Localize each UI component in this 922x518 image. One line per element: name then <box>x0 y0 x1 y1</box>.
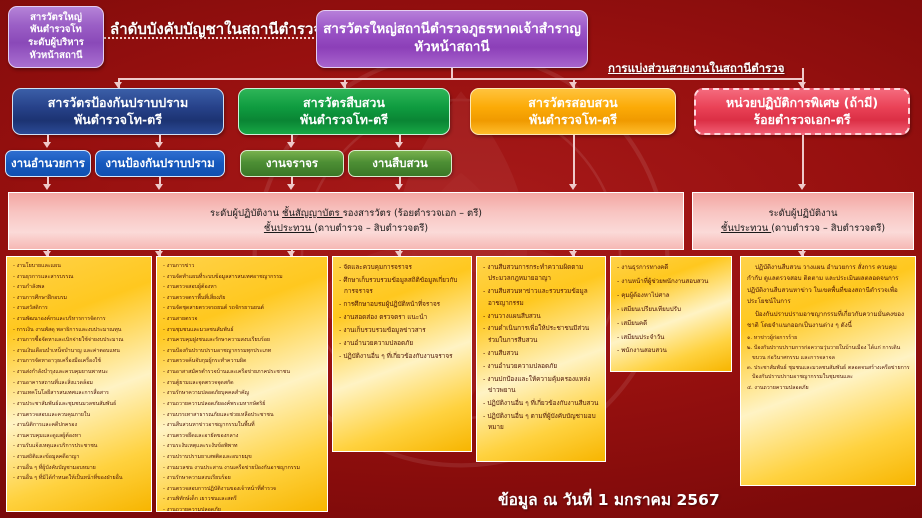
data-date-note: ข้อมูล ณ วันที่ 1 มกราคม 2567 <box>498 487 720 512</box>
interrogation-duty-list: - งานธุรการทางคดี- งานหน้าที่ผู้ช่วยพนัก… <box>617 262 726 358</box>
banner-main-l2a: ชั้นประทวน <box>264 223 314 234</box>
dept-inquiry-line1: สารวัตรสืบสวน <box>303 95 385 112</box>
duty-item: - เสมียนประจำวัน <box>617 332 726 344</box>
duty-item: - งานบรรเทาสาธารณภัยและช่วยเหลือประชาชน <box>163 411 322 420</box>
duty-item: - จัดและควบคุมการจราจร <box>339 262 466 273</box>
duty-item: - งานควบคุมฝูงชนและรักษาความสงบเรียบร้อย <box>163 336 322 345</box>
banner-main-l2b: (ดาบตำรวจ – สิบตำรวจตรี) <box>314 223 428 234</box>
banner-side-l2a: ชั้นประทวน <box>721 223 771 234</box>
duty-item: - งานพัฒนาองค์กรและบริหารการจัดการ <box>13 315 146 324</box>
operational-level-banner-side: ระดับผู้ปฏิบัติงาน ชั้นประทวน (ดาบตำรวจ … <box>692 192 914 250</box>
distribution-bar <box>118 78 802 80</box>
chief-rank-line4: หัวหน้าสถานี <box>29 50 82 63</box>
dept-special-unit-box[interactable]: หน่วยปฏิบัติการพิเศษ (ถ้ามี) ร้อยตำรวจเอ… <box>694 88 910 135</box>
duty-item: - งานตู้ยามและจุดตรวจจุดสกัด <box>163 379 322 388</box>
duty-item: - งานการซื้อจัดหาและเบิกจ่ายใช้จ่ายงบประ… <box>13 336 146 345</box>
duty-item: - เสมียนเปรียบเทียบปรับ <box>617 304 726 316</box>
subunit-investigate[interactable]: งานสืบสวน <box>348 150 452 177</box>
duty-item: - งานพิทักษ์เด็ก เยาวชนและสตรี <box>163 495 322 504</box>
duty-item: - งานการข่าว <box>163 262 322 271</box>
duty-item: - งานอื่น ๆ ที่ผู้บังคับบัญชามอบหมาย <box>13 464 146 473</box>
duty-item: - ศึกษาเก็บรวบรวมข้อมูลสถิติข้อมูลเกี่ยว… <box>339 275 466 298</box>
subunit-traffic[interactable]: งานจราจร <box>240 150 344 177</box>
duty-item: ๔. งานถวายความปลอดภัย <box>747 384 910 393</box>
dept-interrogation-line2: พันตำรวจโท-ตรี <box>529 112 617 129</box>
dept-interrogation-line1: สารวัตรสอบสวน <box>528 95 617 112</box>
duty-item: - งานธุรการและสารบรรณ <box>13 273 146 282</box>
column-investigation-duties: - งานสืบสวนการกระทำความผิดตามประมวลกฎหมา… <box>476 256 606 462</box>
duty-item: - งานถวายความปลอดภัยองค์พระมหากษัตริย์ <box>163 400 322 409</box>
chief-rank-box[interactable]: สารวัตรใหญ่ พันตำรวจโท ระดับผู้บริหาร หั… <box>8 6 104 68</box>
chief-rank-line1: สารวัตรใหญ่ <box>30 12 82 25</box>
dept-prevention-box[interactable]: สารวัตรป้องกันปราบปราม พันตำรวจโท-ตรี <box>12 88 224 135</box>
duty-item: - งานดำเนินการเพื่อให้ประชาชนมีส่วนร่วมใ… <box>483 323 600 346</box>
subunit-traffic-label: งานจราจร <box>266 155 318 173</box>
duty-item: - งานวางแผนสืบสวน <box>483 311 600 322</box>
dept-inquiry-box[interactable]: สารวัตรสืบสวน พันตำรวจโท-ตรี <box>238 88 450 135</box>
dotted-connector <box>104 37 318 39</box>
banner-main-l1b: ชั้นสัญญาบัตร <box>282 208 343 219</box>
duty-item: - งานอาสาสมัครตำรวจบ้านและเครือข่ายภาคปร… <box>163 368 322 377</box>
duty-item: - งานการศึกษาฝึกอบรม <box>13 294 146 303</box>
station-chief-box[interactable]: สารวัตรใหญ่สถานีตำรวจภูธรหาดเจ้าสำราญ หั… <box>316 10 588 68</box>
duty-item: - งานสืบสวนหาข่าวอาชญากรรมในพื้นที่ <box>163 421 322 430</box>
arrow-prevent <box>155 142 163 148</box>
duty-item: - งานจัดทำแผนที่ระบบข้อมูลสารสนเทศอาชญาก… <box>163 273 322 282</box>
duty-item: - งานสายตรวจ <box>163 315 322 324</box>
duty-item: - งานจัดชุดสายตรวจรถยนต์ รถจักรยานยนต์ <box>163 304 322 313</box>
station-chief-line1: สารวัตรใหญ่สถานีตำรวจภูธรหาดเจ้าสำราญ <box>323 21 581 39</box>
duty-item: - การเงิน งานพัสดุ พลาธิการและงบประมาณทุ… <box>13 326 146 335</box>
duty-item: ๒. ป้องกันปราบปรามการก่อความวุ่นวายในบ้า… <box>747 344 910 362</box>
line-to-banner-5 <box>573 135 575 186</box>
line-to-banner-6 <box>802 135 804 186</box>
arrow-admin <box>43 142 51 148</box>
duty-item: - งานตรวจยึดและอายัดของกลาง <box>163 432 322 441</box>
duty-item: - การศึกษาอบรมผู้ปฏิบัติหน้าที่จราจร <box>339 299 466 310</box>
division-heading: การแบ่งส่วนสายงานในสถานีตำรวจ <box>608 60 785 78</box>
duty-item: - งานระงับเหตุและระงับข้อพิพาท <box>163 442 322 451</box>
duty-item: - งานถวายความปลอดภัย <box>163 506 322 512</box>
chief-rank-line2: พันตำรวจโท <box>30 24 82 37</box>
duty-item: - งานเก็บรวบรวมข้อมูลข่าวสาร <box>339 325 466 336</box>
arrow-to-banner-3 <box>287 184 295 190</box>
banner-main-l1a: ระดับผู้ปฏิบัติงาน <box>210 208 282 219</box>
duty-item: - งานป้องกันปราบปรามอาชญากรรมทุกประเภท <box>163 347 322 356</box>
arrow-to-banner-6 <box>798 184 806 190</box>
duty-item: - งานตรวจสอบผู้ต้องหา <box>163 283 322 292</box>
duty-item: ๑. หาข่าวผู้ก่อการร้าย <box>747 334 910 343</box>
dept-special-line1: หน่วยปฏิบัติการพิเศษ (ถ้ามี) <box>726 95 878 112</box>
column-admin-duties: - งานโยบายและแผน- งานธุรการและสารบรรณ- ง… <box>6 256 152 512</box>
banner-main-l1c: รองสารวัตร (ร้อยตำรวจเอก – ตรี) <box>343 208 482 219</box>
traffic-duty-list: - จัดและควบคุมการจราจร- ศึกษาเก็บรวบรวมข… <box>339 262 466 362</box>
duty-item: - ปฏิบัติงานอื่น ๆ ที่เกี่ยวข้องกับงานสื… <box>483 398 600 409</box>
duty-item: - งานการจัดหาอาวุธเครื่องมือเครื่องใช้ <box>13 357 146 366</box>
arrow-to-banner-2 <box>155 184 163 190</box>
duty-item: - งานตรวจสอบและควบคุมภายใน <box>13 411 146 420</box>
investigation-duty-list: - งานสืบสวนการกระทำความผิดตามประมวลกฎหมา… <box>483 262 600 433</box>
arrow-to-banner-5 <box>569 184 577 190</box>
duty-item: - งานควบคุมและดูแลผู้ต้องหา <box>13 432 146 441</box>
station-chief-line2: หัวหน้าสถานี <box>414 39 489 57</box>
banner-side-line2: ชั้นประทวน (ดาบตำรวจ – สิบตำรวจตรี) <box>721 221 885 236</box>
duty-item: - งานรักษาความปลอดภัยบุคคลสำคัญ <box>163 389 322 398</box>
duty-item: - งานตรวจสอบการปฏิบัติงานของเจ้าหน้าที่ต… <box>163 485 322 494</box>
duty-item: - งานตรวจตราพื้นที่เสี่ยงภัย <box>163 294 322 303</box>
duty-item: - งานโยบายและแผน <box>13 262 146 271</box>
dept-interrogation-box[interactable]: สารวัตรสอบสวน พันตำรวจโท-ตรี <box>470 88 676 135</box>
duty-item: ๓. ประชาสัมพันธ์ ชุมชนและมวลชนสัมพันธ์ ต… <box>747 364 910 382</box>
duty-item: - งานสวัสดิการ <box>13 304 146 313</box>
duty-item: - งานเงินเดือนบำเหน็จบำนาญ และค่าตอบแทน <box>13 347 146 356</box>
duty-item: - ปฏิบัติงานอื่น ๆ ที่เกี่ยวข้องกับงานจร… <box>339 351 466 362</box>
prevention-duty-list: - งานการข่าว- งานจัดทำแผนที่ระบบข้อมูลสา… <box>163 262 322 512</box>
duty-item: - งานธุรการทางคดี <box>617 262 726 274</box>
dept-prevention-line2: พันตำรวจโท-ตรี <box>74 112 162 129</box>
admin-duty-list: - งานโยบายและแผน- งานธุรการและสารบรรณ- ง… <box>13 262 146 483</box>
arrow-traffic <box>287 142 295 148</box>
column-prevention-duties: - งานการข่าว- งานจัดทำแผนที่ระบบข้อมูลสา… <box>156 256 328 512</box>
subunit-prevent[interactable]: งานป้องกันปราบปราม <box>95 150 225 177</box>
duty-item: - งานอื่น ๆ ที่มิได้กำหนดให้เป็นหน้าที่ข… <box>13 474 146 483</box>
dept-special-line2: ร้อยตำรวจเอก-ตรี <box>753 112 850 129</box>
duty-item: - คุมผู้ต้องหาไปศาล <box>617 290 726 302</box>
duty-item: - งานรักษาความสงบเรียบร้อย <box>163 474 322 483</box>
duty-item: - งานสอดส่อง ตรวจตรา แนะนำ <box>339 312 466 323</box>
duty-item: - งานสืบสวนการกระทำความผิดตามประมวลกฎหมา… <box>483 262 600 285</box>
column-interrogation-duties: - งานธุรการทางคดี- งานหน้าที่ผู้ช่วยพนัก… <box>610 256 732 372</box>
column-traffic-duties: - จัดและควบคุมการจราจร- ศึกษาเก็บรวบรวมข… <box>332 256 472 452</box>
operational-level-banner: ระดับผู้ปฏิบัติงาน ชั้นสัญญาบัตร รองสารว… <box>8 192 684 250</box>
duty-item: - พนักงานสอบสวน <box>617 345 726 357</box>
duty-item: - งานกำลังพล <box>13 283 146 292</box>
chief-rank-line3: ระดับผู้บริหาร <box>28 37 84 50</box>
column-special-unit-duties: ปฏิบัติงานสืบสวน วางแผน อำนวยการ สั่งการ… <box>740 256 916 486</box>
duty-item: - งานนิติการและคดีปกครอง <box>13 421 146 430</box>
special-duty-list: ๑. หาข่าวผู้ก่อการร้าย๒. ป้องกันปราบปราม… <box>747 334 910 393</box>
special-intro-2: ป้องกันปราบปรามอาชญากรรมที่เกี่ยวกับความ… <box>747 309 910 332</box>
duty-item: - งานตรวจค้นจับกุมผู้กระทำความผิด <box>163 357 322 366</box>
duty-item: - งานปราบปรามยาเสพติดและอบายมุข <box>163 453 322 462</box>
duty-item: - งานอำนวยความปลอดภัย <box>483 361 600 372</box>
subunit-prevent-label: งานป้องกันปราบปราม <box>105 155 214 173</box>
duty-item: - ปฏิบัติงานอื่น ๆ ตามที่ผู้บังคับบัญชาม… <box>483 411 600 434</box>
duty-item: - งานหน้าที่ผู้ช่วยพนักงานสอบสวน <box>617 276 726 288</box>
dept-prevention-line1: สารวัตรป้องกันปราบปราม <box>48 95 188 112</box>
subunit-investigate-label: งานสืบสวน <box>372 155 428 173</box>
banner-side-line1: ระดับผู้ปฏิบัติงาน <box>768 206 837 221</box>
duty-item: - งานเทคโนโลยีสารสนเทศและการสื่อสาร <box>13 389 146 398</box>
duty-item: - งานส่งกำลังบำรุงและควบคุมยานพาหนะ <box>13 368 146 377</box>
duty-item: - งานปกป้องและให้ความคุ้มครองแหล่งข่าวพย… <box>483 374 600 397</box>
arrow-to-banner-4 <box>395 184 403 190</box>
duty-item: - งานประชาสัมพันธ์และชุมชนมวลชนสัมพันธ์ <box>13 400 146 409</box>
banner-main-line2: ชั้นประทวน (ดาบตำรวจ – สิบตำรวจตรี) <box>264 221 428 236</box>
banner-main-line1: ระดับผู้ปฏิบัติงาน ชั้นสัญญาบัตร รองสารว… <box>210 206 482 221</box>
subunit-admin[interactable]: งานอำนวยการ <box>5 150 91 177</box>
duty-item: - งานสถิติและข้อมูลคดีอาญา <box>13 453 146 462</box>
duty-item: - งานชุมชนและมวลชนสัมพันธ์ <box>163 326 322 335</box>
org-chart-canvas: ลำดับบังคับบัญชาในสถานีตำรวจ การแบ่งส่วน… <box>0 0 922 518</box>
duty-item: - งานสืบสวน <box>483 348 600 359</box>
duty-item: - เสมียนคดี <box>617 318 726 330</box>
dept-inquiry-line2: พันตำรวจโท-ตรี <box>300 112 388 129</box>
arrow-to-banner-1 <box>43 184 51 190</box>
subunit-admin-label: งานอำนวยการ <box>11 155 85 173</box>
banner-side-l2b: (ดาบตำรวจ – สิบตำรวจตรี) <box>771 223 885 234</box>
arrow-investigate <box>395 142 403 148</box>
duty-item: - งานรับแจ้งเหตุและบริการประชาชน <box>13 442 146 451</box>
trunk-line <box>451 68 453 78</box>
duty-item: - งานมวลชน งานประสาน งานเครือข่ายป้องกัน… <box>163 464 322 473</box>
duty-item: - งานอำนวยความปลอดภัย <box>339 338 466 349</box>
duty-item: - งานอาคารสถานที่และสิ่งแวดล้อม <box>13 379 146 388</box>
special-intro-1: ปฏิบัติงานสืบสวน วางแผน อำนวยการ สั่งการ… <box>747 262 910 308</box>
duty-item: - งานสืบสวนหาข่าวและรวบรวมข้อมูลอาชญากรร… <box>483 286 600 309</box>
